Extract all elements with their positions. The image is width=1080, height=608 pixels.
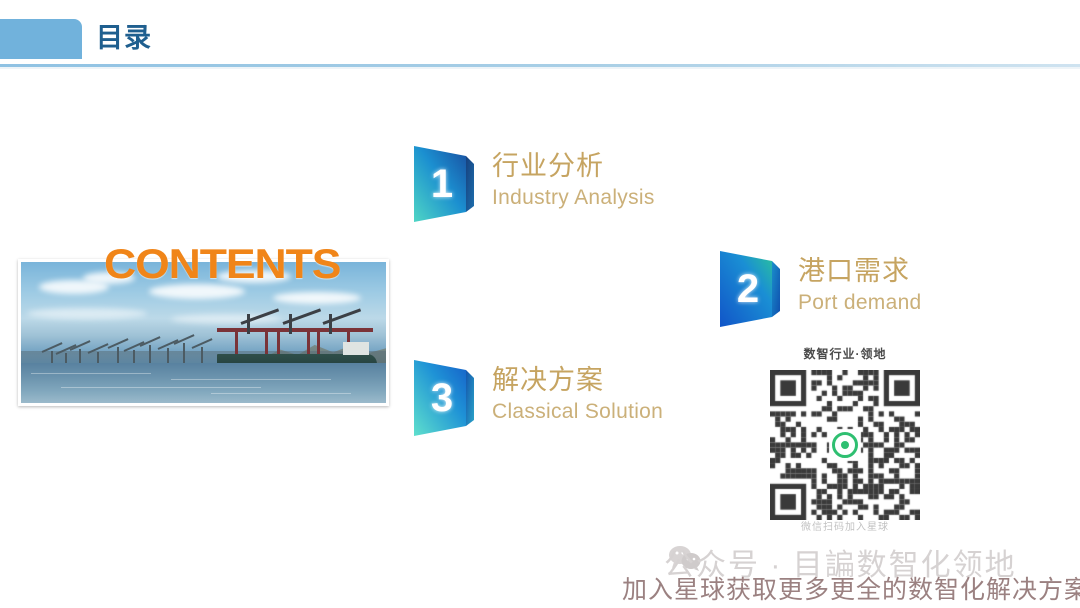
agenda-number-badge <box>414 146 476 222</box>
qr-code[interactable] <box>770 370 920 520</box>
page-title: 目录 <box>96 20 152 56</box>
agenda-labels-3: 解决方案 Classical Solution <box>492 364 663 425</box>
agenda-label-en-3: Classical Solution <box>492 399 663 425</box>
agenda-label-cn-2: 港口需求 <box>798 255 922 287</box>
agenda-labels-2: 港口需求 Port demand <box>798 255 922 316</box>
agenda-number-badge <box>720 251 782 327</box>
wechat-logo-icon <box>832 432 858 458</box>
cloud-shape <box>27 308 147 319</box>
header-divider-soft <box>0 67 1080 69</box>
qr-caption: 微信扫码加入星球 <box>736 518 954 533</box>
agenda-labels-1: 行业分析 Industry Analysis <box>492 150 655 211</box>
water-surface <box>21 363 386 403</box>
header-accent-tab <box>0 19 82 59</box>
ship-superstructure <box>343 342 369 355</box>
contents-heading: CONTENTS <box>104 240 340 288</box>
agenda-label-cn-3: 解决方案 <box>492 364 663 396</box>
watermark-tagline: 加入星球获取更多更全的数智化解决方案 <box>622 570 1080 606</box>
slide-header: 目录 <box>0 0 1080 66</box>
agenda-number-badge <box>414 360 476 436</box>
slide-canvas: 目录 <box>0 0 1080 608</box>
qr-card: 数智行业·领地 微信扫码加入星球 <box>736 338 954 536</box>
agenda-label-en-1: Industry Analysis <box>492 185 655 211</box>
cloud-shape <box>273 292 361 304</box>
qr-title: 数智行业·领地 <box>736 345 954 362</box>
agenda-label-cn-1: 行业分析 <box>492 150 655 182</box>
agenda-label-en-2: Port demand <box>798 290 922 316</box>
